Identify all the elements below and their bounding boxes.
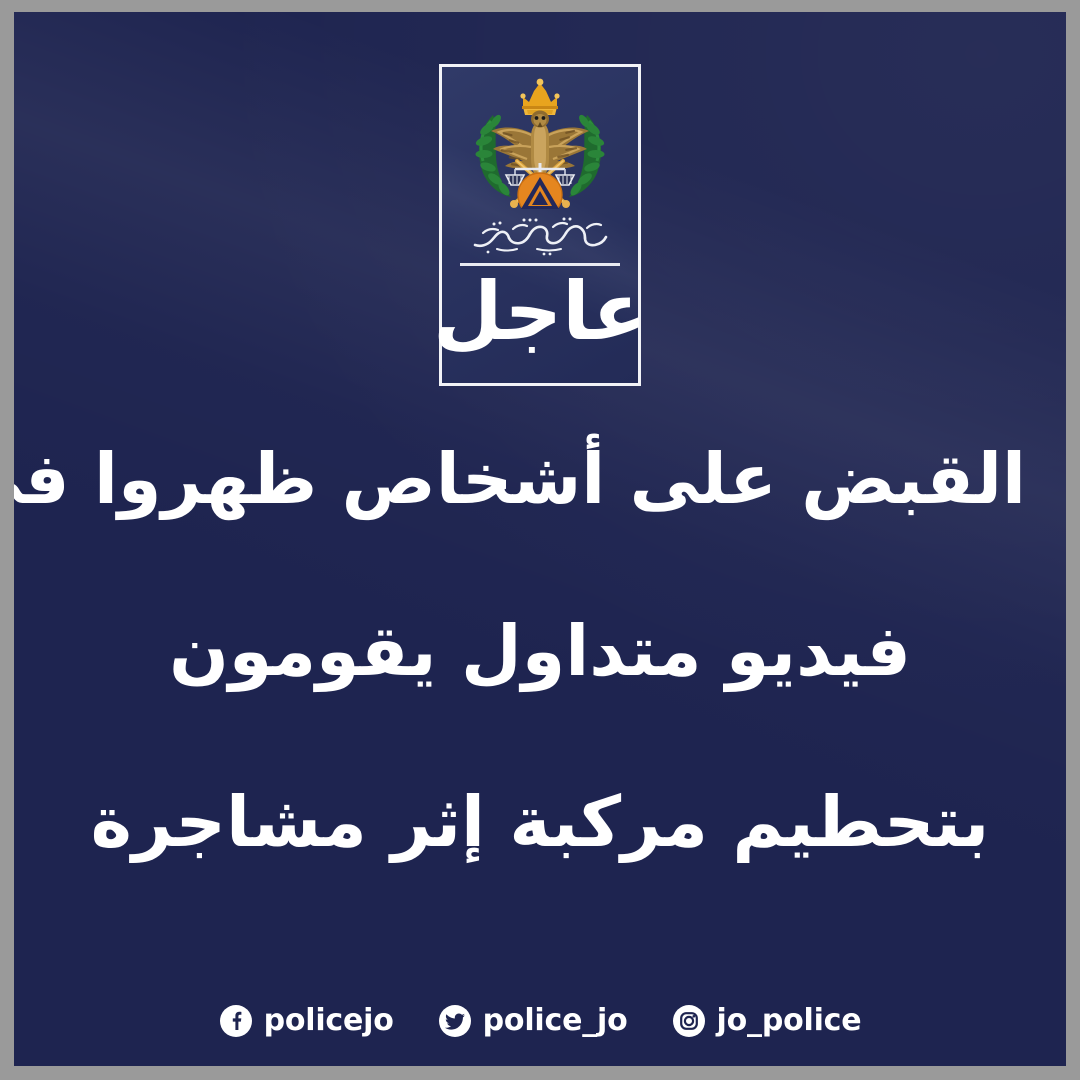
instagram-handle: jo_police	[717, 1006, 862, 1036]
headline-line-3: بتحطيم مركبة إثر مشاجرة	[54, 785, 1026, 861]
headline-block: القبض على أشخاص ظهروا في فيديو متداول يق…	[54, 442, 1026, 861]
olive-wreath-right	[568, 113, 605, 197]
twitter-icon[interactable]	[438, 1004, 472, 1038]
logo-plate: عاجل	[439, 64, 641, 386]
social-account-facebook[interactable]: policejo	[219, 1004, 394, 1038]
psd-emblem	[465, 77, 615, 209]
outer-frame: عاجل القبض على أشخاص ظهروا في فيديو متدا…	[0, 0, 1080, 1080]
news-card: عاجل القبض على أشخاص ظهروا في فيديو متدا…	[14, 12, 1066, 1066]
headline-line-2: فيديو متداول يقومون	[54, 614, 1026, 690]
urgent-label: عاجل	[433, 272, 647, 352]
social-account-instagram[interactable]: jo_police	[672, 1004, 862, 1038]
twitter-handle: police_jo	[483, 1006, 628, 1036]
facebook-handle: policejo	[264, 1006, 394, 1036]
royal-crown-icon	[520, 79, 559, 115]
instagram-icon[interactable]	[672, 1004, 706, 1038]
headline-line-1: القبض على أشخاص ظهروا في	[54, 442, 1026, 518]
directorate-name-calligraphy	[467, 211, 613, 257]
emblem-base	[518, 173, 562, 209]
facebook-icon[interactable]	[219, 1004, 253, 1038]
social-account-twitter[interactable]: police_jo	[438, 1004, 628, 1038]
social-bar: policejo police_jo	[14, 1004, 1066, 1038]
olive-wreath-left	[475, 113, 512, 197]
